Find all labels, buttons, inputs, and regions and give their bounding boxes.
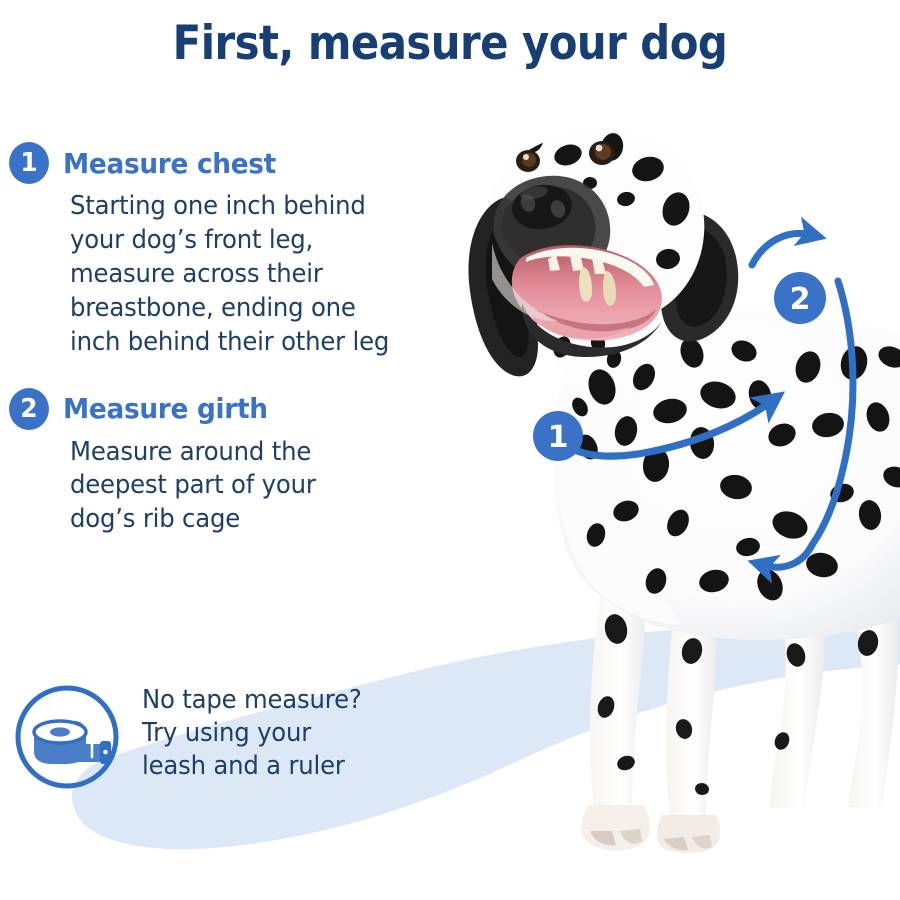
tip-line: leash and a ruler (142, 750, 362, 783)
step-2-body-line: Measure around the (70, 436, 481, 470)
step-2-number-badge: 2 (9, 388, 49, 430)
step-1-body-line: measure across their (70, 258, 481, 292)
step-2-body-line: dog’s rib cage (70, 503, 481, 537)
step-item-1: 1 Measure chest Starting one inch behind… (8, 142, 508, 360)
infographic-page: 1 2 First, measure your dog 1 Measure ch… (0, 0, 900, 900)
step-1-body: Starting one inch behind your dog’s fron… (70, 190, 481, 360)
step-1-heading: Measure chest (63, 147, 276, 180)
step-1-body-line: breastbone, ending one (70, 292, 481, 326)
step-1-number-badge: 1 (9, 142, 49, 184)
tape-measure-tip: No tape measure? Try using your leash an… (12, 680, 472, 792)
step-2-body-line: deepest part of your (70, 469, 481, 503)
page-title: First, measure your dog (50, 16, 851, 71)
tip-line: No tape measure? (142, 684, 362, 717)
step-2-header: 2 Measure girth (8, 388, 508, 430)
step-1-body-line: your dog’s front leg, (70, 224, 481, 258)
tape-measure-icon (12, 682, 122, 792)
step-item-2: 2 Measure girth Measure around the deepe… (8, 388, 508, 538)
step-2-body: Measure around the deepest part of your … (70, 436, 481, 538)
step-1-header: 1 Measure chest (8, 142, 508, 184)
step-1-body-line: inch behind their other leg (70, 326, 481, 360)
tip-line: Try using your (142, 717, 362, 750)
steps-list: 1 Measure chest Starting one inch behind… (8, 142, 508, 537)
step-1-body-line: Starting one inch behind (70, 190, 481, 224)
tape-measure-tip-text: No tape measure? Try using your leash an… (142, 680, 362, 783)
step-2-heading: Measure girth (63, 392, 268, 425)
